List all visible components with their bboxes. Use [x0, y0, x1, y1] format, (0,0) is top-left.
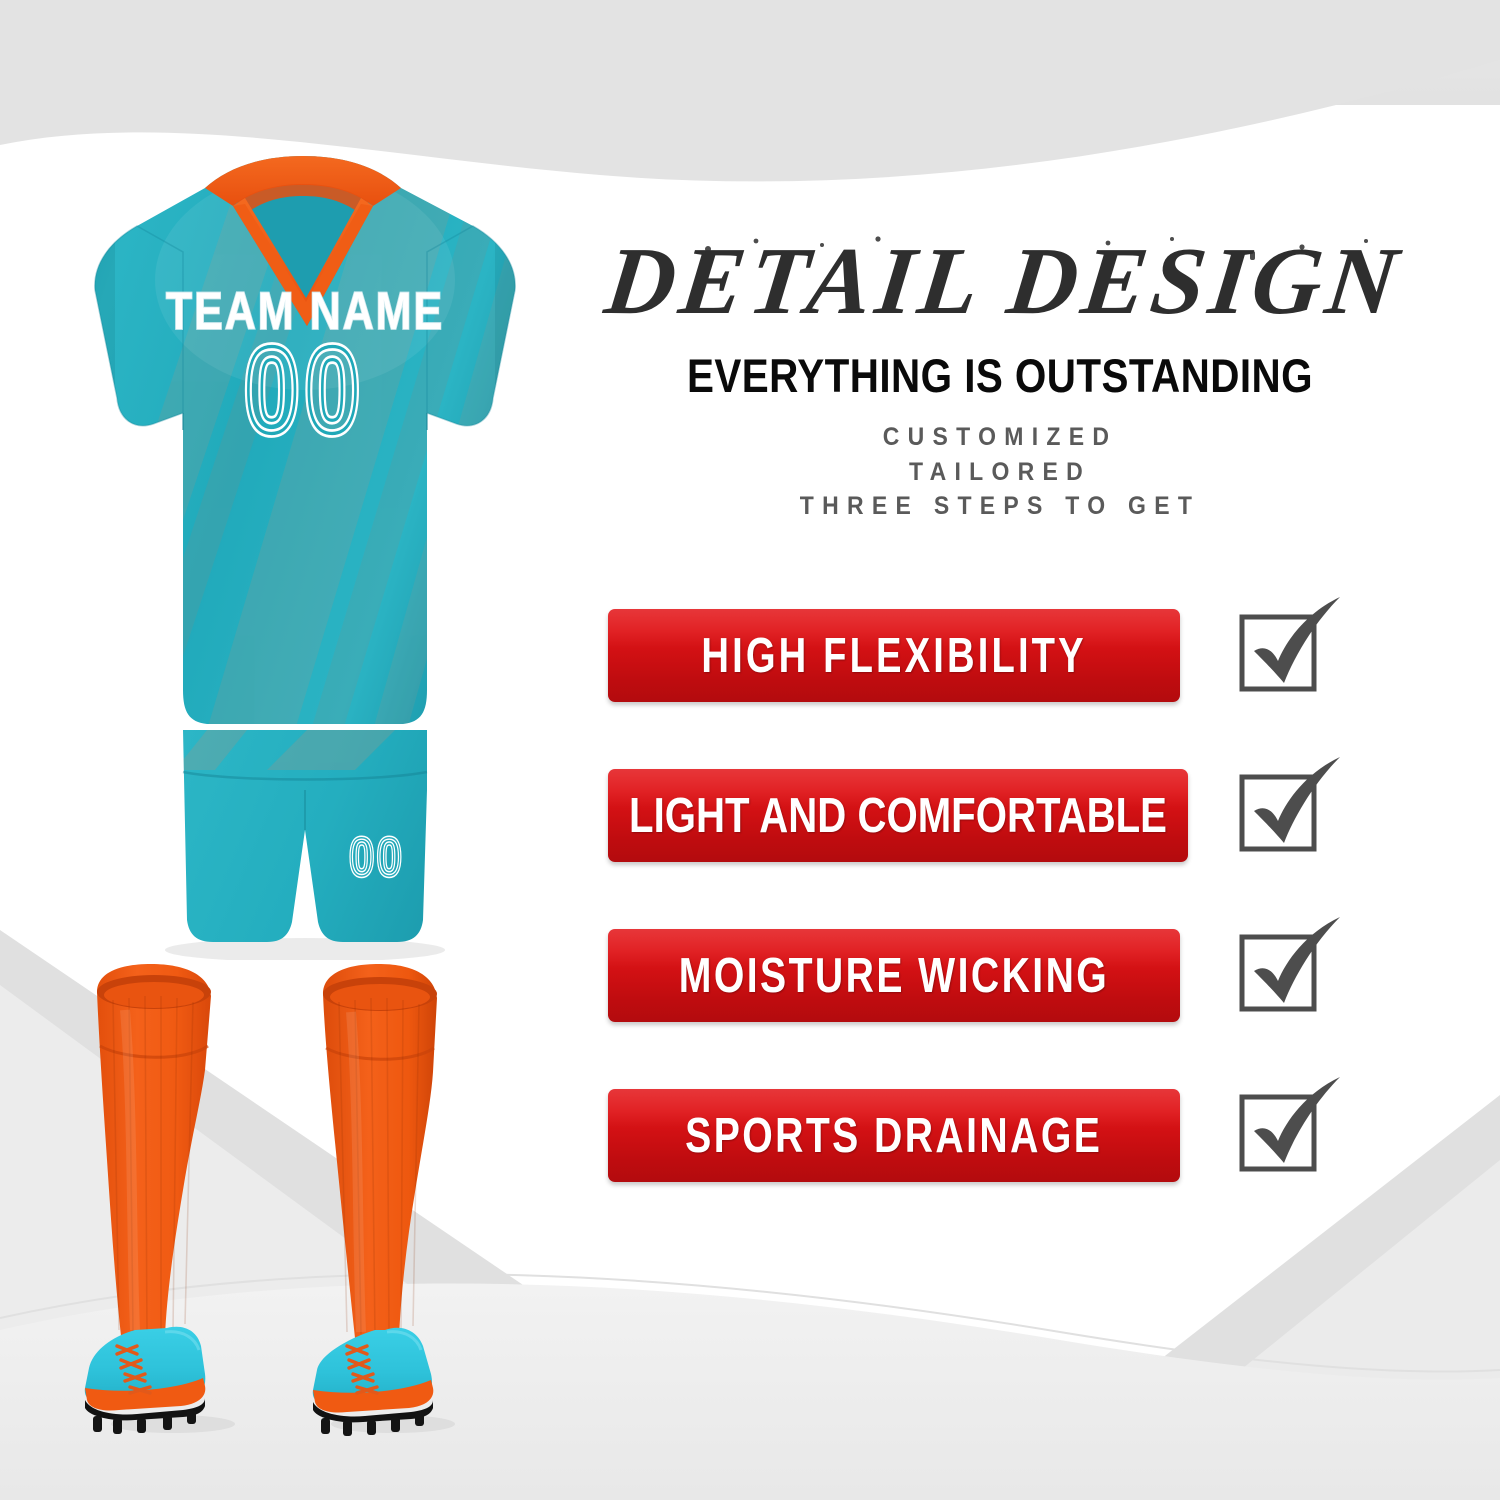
- tagline-3: THREE STEPS TO GET: [595, 489, 1405, 524]
- feature-label: HIGH FLEXIBILITY: [701, 628, 1086, 684]
- soccer-socks-icon: [55, 950, 555, 1470]
- tagline-1: CUSTOMIZED: [595, 420, 1405, 455]
- feature-row[interactable]: MOISTURE WICKING: [608, 917, 1488, 1030]
- sock-right: [323, 964, 437, 1338]
- jersey-number: 00 00: [245, 322, 366, 459]
- sock-left: [97, 964, 211, 1336]
- soccer-jersey-icon: TEAM NAME 00 00: [55, 130, 555, 960]
- checkbox-checked-icon[interactable]: [1228, 1071, 1348, 1191]
- soccer-cleat-right: [313, 1328, 434, 1436]
- feature-row[interactable]: HIGH FLEXIBILITY: [608, 597, 1488, 710]
- page-title-text: DETAIL DESIGN: [599, 227, 1408, 334]
- page-subtitle: EVERYTHING IS OUTSTANDING: [622, 352, 1379, 399]
- svg-text:00: 00: [350, 828, 405, 887]
- feature-banner[interactable]: HIGH FLEXIBILITY: [608, 609, 1180, 702]
- checkbox-checked-icon[interactable]: [1228, 911, 1348, 1031]
- feature-banner[interactable]: LIGHT AND COMFORTABLE: [608, 769, 1188, 862]
- info-column: DETAIL DESIGN EVERYTHING IS OUTSTANDING: [560, 0, 1500, 1500]
- feature-row[interactable]: SPORTS DRAINAGE: [608, 1077, 1488, 1190]
- feature-label: SPORTS DRAINAGE: [685, 1108, 1102, 1164]
- feature-banner[interactable]: MOISTURE WICKING: [608, 929, 1180, 1022]
- feature-banner[interactable]: SPORTS DRAINAGE: [608, 1089, 1180, 1182]
- product-detail-poster: TEAM NAME 00 00: [0, 0, 1500, 1500]
- feature-row[interactable]: LIGHT AND COMFORTABLE: [608, 757, 1488, 870]
- feature-label: MOISTURE WICKING: [679, 948, 1109, 1004]
- feature-label: LIGHT AND COMFORTABLE: [629, 788, 1167, 844]
- tagline-2: TAILORED: [595, 455, 1405, 490]
- checkbox-checked-icon[interactable]: [1228, 591, 1348, 711]
- page-title: DETAIL DESIGN: [560, 225, 1440, 340]
- taglines: CUSTOMIZED TAILORED THREE STEPS TO GET: [560, 420, 1440, 524]
- product-imagery-column: TEAM NAME 00 00: [0, 0, 600, 1500]
- checkbox-checked-icon[interactable]: [1228, 751, 1348, 871]
- shorts-number: 00 00: [350, 828, 405, 887]
- svg-text:00: 00: [245, 322, 366, 459]
- feature-list: HIGH FLEXIBILITY LIGHT AND COMFORTABLE: [608, 597, 1488, 1237]
- soccer-cleats-icon: [85, 1327, 206, 1434]
